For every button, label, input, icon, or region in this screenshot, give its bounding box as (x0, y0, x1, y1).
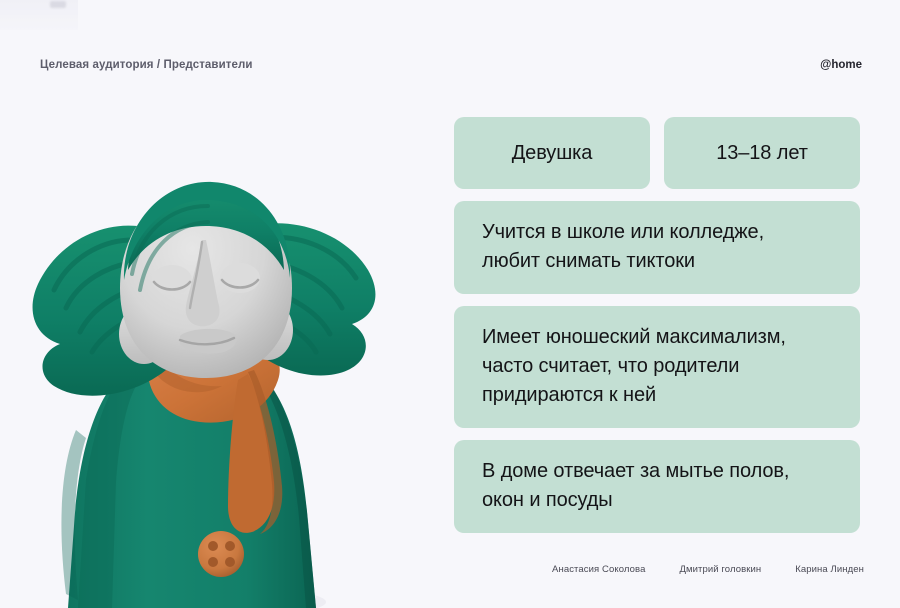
capture-edge-artifact (0, 0, 78, 30)
persona-block-attitude-line-1: Имеет юношеский максимализм, (482, 323, 834, 352)
persona-pill-gender-label: Девушка (512, 139, 593, 168)
persona-pill-age-label: 13–18 лет (716, 139, 808, 168)
persona-card-list: Девушка 13–18 лет Учится в школе или кол… (454, 117, 860, 533)
persona-block-attitude-line-2: часто считает, что родители (482, 352, 834, 381)
slide-root: Целевая аудитория / Представители @home (0, 0, 900, 608)
persona-block-education-line-1: Учится в школе или колледже, (482, 218, 834, 247)
clay-girl-illustration (16, 130, 416, 608)
persona-block-chores-line-1: В доме отвечает за мытье полов, (482, 457, 834, 486)
credit-author-2: Дмитрий головкин (679, 564, 761, 575)
credits: Анастасия Соколова Дмитрий головкин Кари… (552, 564, 864, 575)
persona-block-education-line-2: любит снимать тиктоки (482, 247, 834, 276)
credit-author-3: Карина Линден (795, 564, 864, 575)
credit-author-1: Анастасия Соколова (552, 564, 645, 575)
persona-block-education: Учится в школе или колледже, любит снима… (454, 201, 860, 294)
persona-pill-age: 13–18 лет (664, 117, 860, 189)
persona-block-attitude-line-3: придираются к ней (482, 381, 834, 410)
persona-pill-row: Девушка 13–18 лет (454, 117, 860, 189)
breadcrumb: Целевая аудитория / Представители (40, 59, 253, 71)
persona-block-chores: В доме отвечает за мытье полов, окон и п… (454, 440, 860, 533)
persona-pill-gender: Девушка (454, 117, 650, 189)
home-tag[interactable]: @home (820, 59, 862, 71)
persona-block-chores-line-2: окон и посуды (482, 486, 834, 515)
persona-block-attitude: Имеет юношеский максимализм, часто счита… (454, 306, 860, 428)
